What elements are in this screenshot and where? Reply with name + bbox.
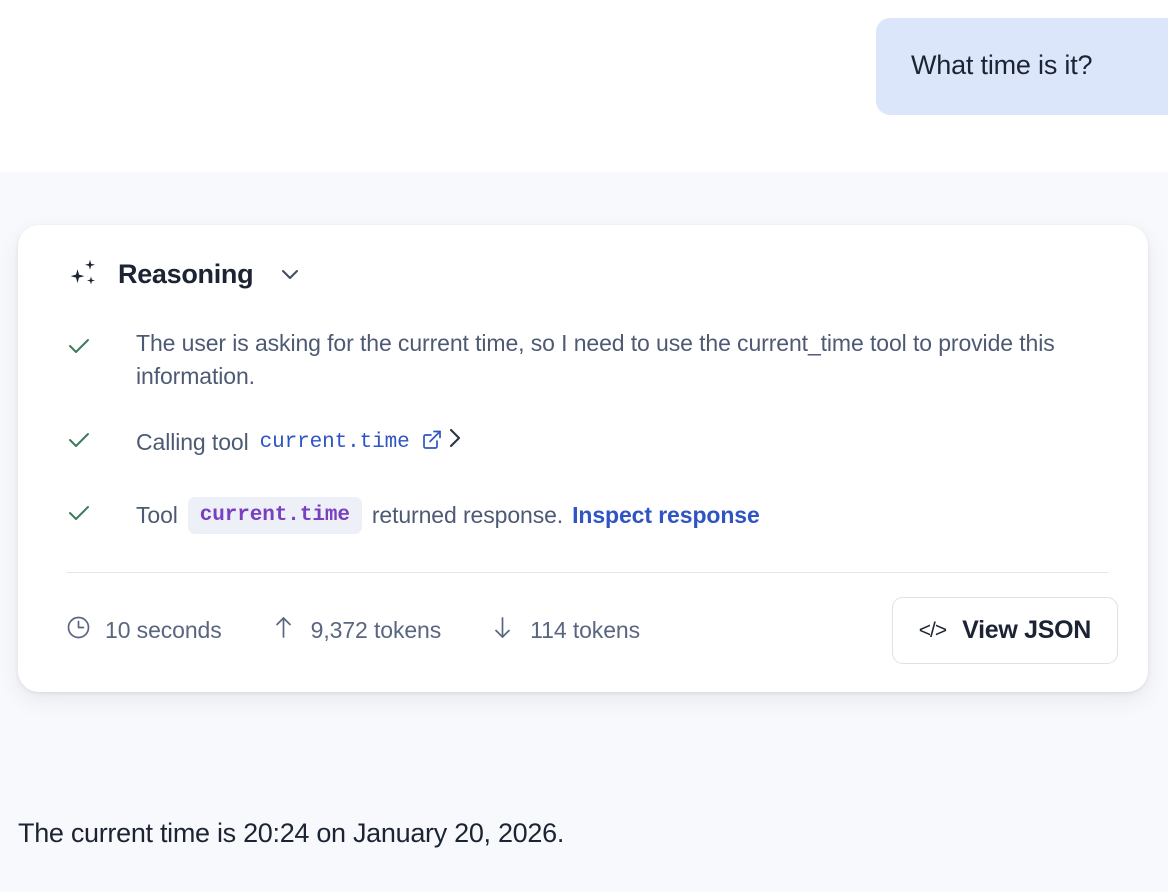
stat-input-tokens: 9,372 tokens	[270, 615, 442, 646]
reasoning-card: Reasoning The user is asking for the cur…	[18, 225, 1148, 692]
tool-response-prefix: Tool	[136, 499, 178, 532]
assistant-reply-text: The current time is 20:24 on January 20,…	[18, 818, 564, 849]
tool-call-prefix: Calling tool	[136, 426, 249, 459]
user-message-bubble: What time is it?	[876, 18, 1168, 115]
reasoning-step-tool-response: Tool current.time returned response. Ins…	[48, 497, 1118, 534]
stat-output-tokens: 114 tokens	[489, 615, 640, 646]
view-json-button[interactable]: </> View JSON	[892, 597, 1118, 664]
check-icon	[66, 327, 92, 364]
arrow-up-icon	[270, 615, 311, 646]
duration-label: 10 seconds	[105, 617, 222, 644]
external-link-icon[interactable]	[410, 426, 442, 459]
reasoning-step-tool-call[interactable]: Calling tool current.time	[48, 426, 1118, 459]
view-json-label: View JSON	[962, 616, 1091, 645]
chevron-right-icon[interactable]	[442, 426, 478, 459]
check-icon	[66, 500, 92, 531]
arrow-down-icon	[489, 615, 530, 646]
output-tokens-label: 114 tokens	[530, 617, 640, 644]
tool-name-badge: current.time	[188, 497, 362, 534]
check-icon	[66, 427, 92, 458]
tool-response-body: Tool current.time returned response. Ins…	[136, 497, 1118, 534]
input-tokens-label: 9,372 tokens	[311, 617, 442, 644]
tool-name-link[interactable]: current.time	[260, 428, 410, 458]
stat-duration: 10 seconds	[66, 615, 222, 646]
reasoning-header[interactable]: Reasoning	[48, 257, 1118, 291]
reasoning-step-thought: The user is asking for the current time,…	[48, 327, 1118, 392]
code-icon: </>	[919, 619, 946, 643]
tool-response-suffix: returned response.	[372, 499, 563, 532]
reasoning-step-text: The user is asking for the current time,…	[136, 327, 1118, 392]
sparkles-icon	[66, 257, 100, 291]
tool-call-body: Calling tool current.time	[136, 426, 1118, 459]
reasoning-steps: The user is asking for the current time,…	[48, 327, 1118, 534]
page-title: Reasoning	[118, 259, 253, 290]
reasoning-footer: 10 seconds 9,372 tokens 114 tokens </>	[48, 573, 1118, 664]
user-message-row: What time is it?	[0, 0, 1168, 115]
chevron-down-icon[interactable]	[271, 261, 303, 287]
clock-icon	[66, 615, 105, 646]
inspect-response-link[interactable]: Inspect response	[572, 499, 760, 532]
